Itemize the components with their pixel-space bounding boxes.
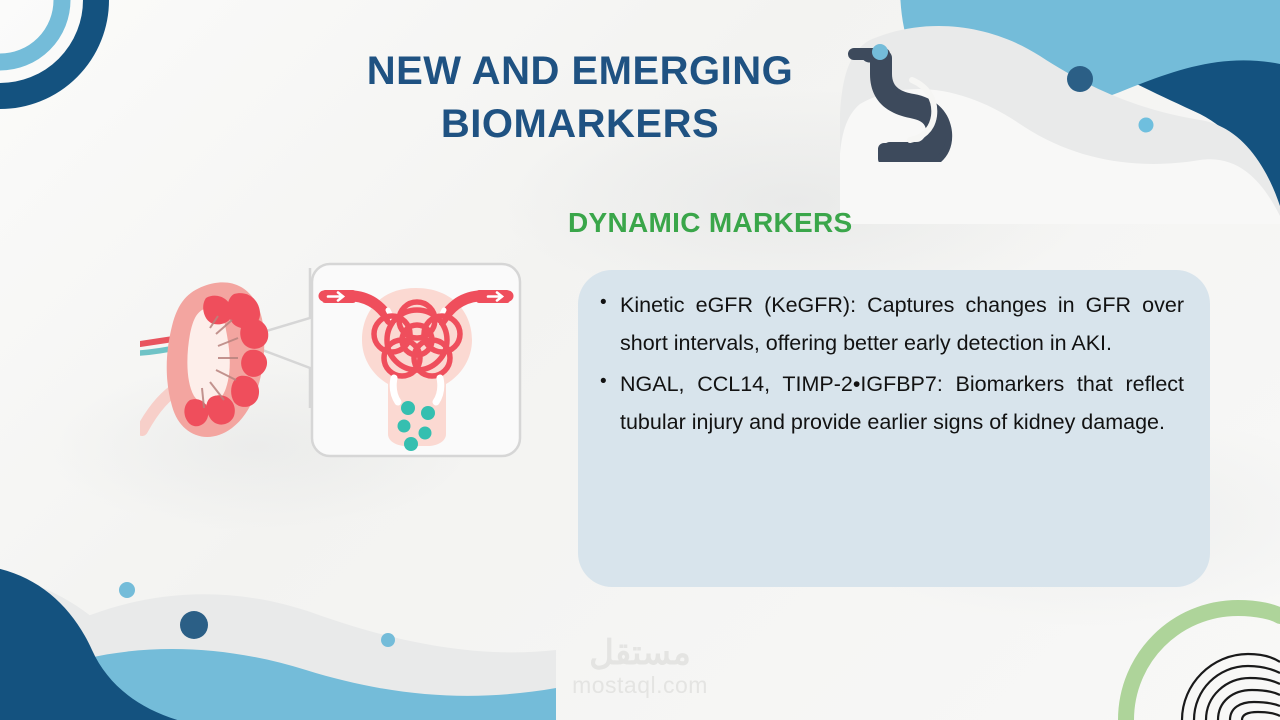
ring-outer-navy: [0, 0, 96, 96]
dot-lightblue-bl-2: [381, 633, 395, 647]
kidney-illustration: [140, 258, 540, 483]
slide-canvas: NEW AND EMERGING BIOMARKERS DYNAMIC MARK…: [0, 0, 1280, 720]
page-title: NEW AND EMERGING BIOMARKERS: [250, 45, 910, 151]
watermark-arabic: مستقل: [540, 636, 740, 670]
dot-navy-large: [1067, 66, 1093, 92]
bullet-text-1: Kinetic eGFR (KeGFR): Captures changes i…: [620, 286, 1184, 363]
top-left-rings-decoration: [0, 0, 200, 148]
concentric-line-pattern: [1182, 654, 1280, 720]
dot-lightblue-small: [1139, 118, 1154, 133]
stomach-inner-curve: [910, 80, 934, 140]
section-subtitle: DYNAMIC MARKERS: [568, 207, 853, 239]
bullet-list: • Kinetic eGFR (KeGFR): Captures changes…: [596, 286, 1184, 441]
dot-lightblue-bl: [119, 582, 135, 598]
bullet-text-2: NGAL, CCL14, TIMP-2•IGFBP7: Biomarkers t…: [620, 365, 1184, 442]
bl-wave-palegray: [0, 576, 296, 720]
kidney-cross-section-icon: [140, 282, 268, 437]
bullet-marker-icon: •: [596, 365, 620, 399]
bottom-right-arc-decoration: [1118, 592, 1280, 720]
bl-wave-navy: [0, 568, 202, 720]
title-line-2: BIOMARKERS: [250, 98, 910, 151]
ring-inner-lightblue: [0, 0, 62, 62]
green-brush-arc: [1126, 608, 1280, 720]
content-card: • Kinetic eGFR (KeGFR): Captures changes…: [578, 270, 1210, 587]
bottom-left-waves-decoration: [0, 530, 556, 720]
watermark: مستقل mostaql.com: [540, 636, 740, 700]
bl-wave-palegray-2: [0, 594, 556, 720]
watermark-latin: mostaql.com: [540, 672, 740, 700]
list-item: • NGAL, CCL14, TIMP-2•IGFBP7: Biomarkers…: [596, 365, 1184, 442]
wave-navy: [990, 0, 1280, 224]
title-line-1: NEW AND EMERGING: [250, 45, 910, 98]
list-item: • Kinetic eGFR (KeGFR): Captures changes…: [596, 286, 1184, 363]
nephron-callout-box: [312, 264, 520, 456]
bullet-marker-icon: •: [596, 286, 620, 320]
wave-lightblue: [900, 0, 1280, 108]
dot-navy-bl: [180, 611, 208, 639]
bl-wave-lightblue: [0, 649, 556, 720]
